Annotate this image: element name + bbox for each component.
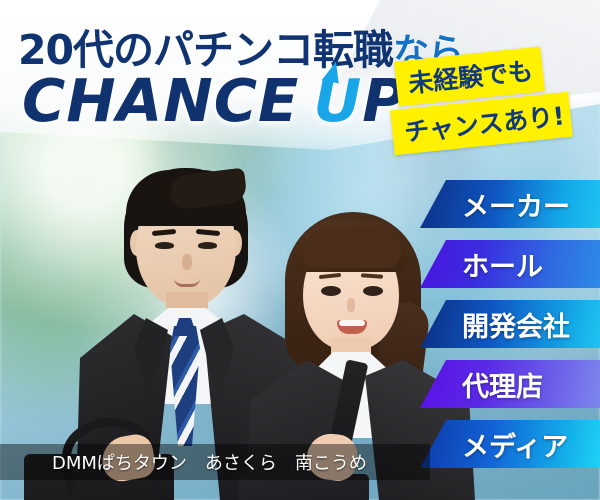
- category-list: メーカー ホール 開発会社 代理店 メディア: [0, 180, 600, 480]
- highlight-badge: 未経験でも チャンスあり!: [396, 54, 600, 146]
- recruitment-banner[interactable]: 20代のパチンコ転職なら CHANCEUP 未経験でも チャンスあり! メーカー…: [0, 0, 600, 500]
- category-label: 代理店: [462, 365, 543, 404]
- credit-text: DMMぱちタウン あさくら 南こうめ: [52, 449, 367, 475]
- category-item-agency[interactable]: 代理店: [420, 360, 600, 408]
- category-label: メディア: [462, 425, 568, 464]
- category-label: 開発会社: [462, 305, 570, 344]
- category-item-development-company[interactable]: 開発会社: [420, 300, 600, 348]
- chance-up-logo: CHANCEUP: [22, 66, 407, 135]
- category-item-maker[interactable]: メーカー: [420, 180, 600, 228]
- logo-word-chance: CHANCE: [22, 66, 299, 135]
- category-label: ホール: [462, 245, 543, 284]
- category-label: メーカー: [462, 185, 570, 224]
- category-item-hall[interactable]: ホール: [420, 240, 600, 288]
- credit-bar: DMMぱちタウン あさくら 南こうめ: [0, 444, 430, 480]
- category-item-media[interactable]: メディア: [420, 420, 600, 468]
